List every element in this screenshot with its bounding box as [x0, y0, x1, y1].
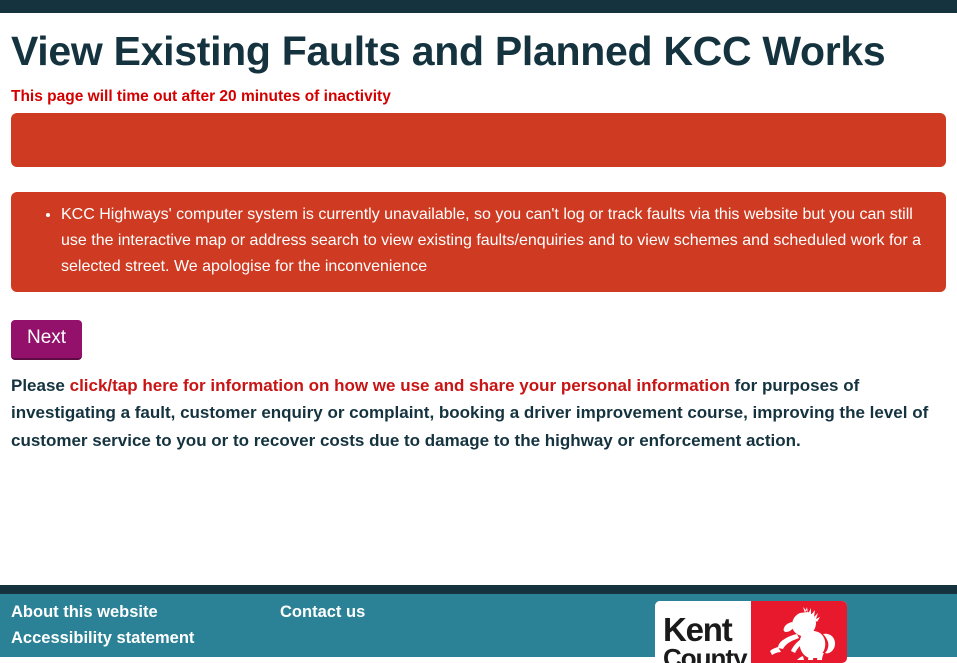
kent-logo-word-top: Kent	[663, 613, 732, 646]
timeout-notice: This page will time out after 20 minutes…	[0, 80, 957, 107]
footer-link-row-secondary: Accessibility statement	[11, 625, 631, 651]
footer-link-row-primary: About this website Contact us	[11, 599, 631, 625]
page-footer: About this website Contact us Accessibil…	[0, 585, 957, 657]
list-item: KCC Highways' computer system is current…	[61, 202, 932, 280]
footer-body: About this website Contact us Accessibil…	[0, 594, 957, 657]
footer-divider	[0, 585, 957, 594]
personal-information-link[interactable]: click/tap here for information on how we…	[70, 376, 730, 395]
footer-link-contact-us[interactable]: Contact us	[280, 599, 365, 625]
alert-banner-empty	[11, 113, 946, 167]
personal-information-paragraph: Please click/tap here for information on…	[11, 372, 931, 455]
kent-logo-word-bottom: County	[663, 645, 747, 663]
alert-banner-message: KCC Highways' computer system is current…	[11, 192, 946, 292]
top-accent-bar	[0, 0, 957, 13]
footer-link-about-this-website[interactable]: About this website	[11, 599, 280, 625]
next-button[interactable]: Next	[11, 320, 82, 360]
personal-info-prefix: Please	[11, 376, 70, 395]
kent-logo-crest	[751, 601, 847, 663]
rearing-horse-icon	[759, 604, 839, 660]
main-content: View Existing Faults and Planned KCC Wor…	[0, 13, 957, 455]
alert-message-list: KCC Highways' computer system is current…	[25, 202, 932, 280]
kent-logo-wordmark: Kent County	[655, 601, 751, 663]
footer-links: About this website Contact us Accessibil…	[11, 599, 631, 652]
kent-county-council-logo[interactable]: Kent County	[655, 601, 847, 663]
page-title: View Existing Faults and Planned KCC Wor…	[0, 13, 922, 80]
footer-link-accessibility-statement[interactable]: Accessibility statement	[11, 625, 280, 651]
